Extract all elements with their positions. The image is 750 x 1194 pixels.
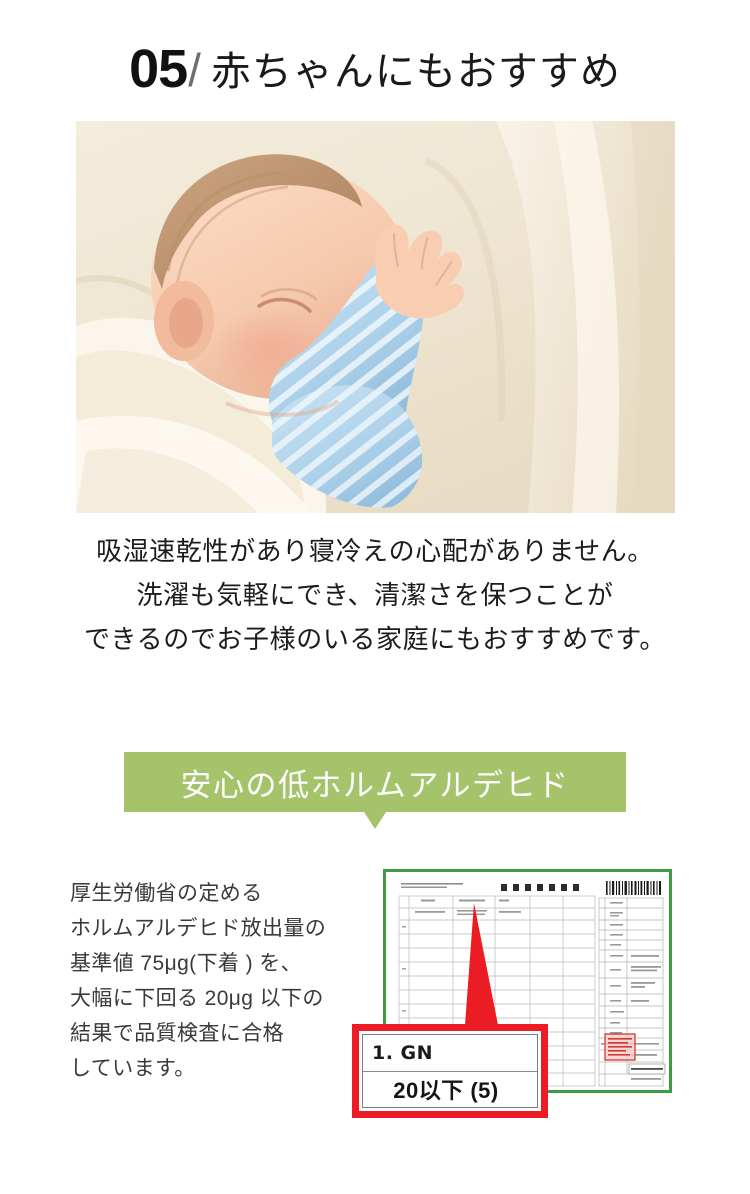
- description-line: 吸湿速乾性があり寝冷えの心配がありません。: [0, 529, 750, 573]
- spec-text-block: 厚生労働省の定める ホルムアルデヒド放出量の 基準値 75μg(下着 ) を、 …: [70, 876, 370, 1086]
- description-line: 洗濯も気軽にでき、清潔さを保つことが: [0, 573, 750, 617]
- page-title: 05/赤ちゃんにもおすすめ: [0, 38, 750, 100]
- spec-line: 厚生労働省の定める: [70, 876, 370, 911]
- description-block: 吸湿速乾性があり寝冷えの心配がありません。 洗濯も気軽にでき、清潔さを保つことが…: [0, 529, 750, 661]
- sleeping-baby-photo: [76, 121, 675, 513]
- callout-table: 1. GN 20以下 (5): [362, 1034, 538, 1108]
- spec-line: 結果で品質検査に合格: [70, 1016, 370, 1051]
- section-separator: /: [188, 44, 201, 96]
- callout-value-row: 20以下 (5): [363, 1072, 537, 1108]
- section-title-text: 赤ちゃんにもおすすめ: [211, 50, 621, 94]
- section-number: 05: [129, 39, 187, 99]
- red-pointer-triangle-icon: [465, 903, 498, 1025]
- formaldehyde-banner: 安心の低ホルムアルデヒド: [124, 752, 626, 812]
- callout-code: 1. GN: [372, 1042, 433, 1064]
- description-line: できるのでお子様のいる家庭にもおすすめです。: [0, 617, 750, 661]
- banner-label: 安心の低ホルムアルデヒド: [180, 760, 569, 805]
- spec-line: 基準値 75μg(下着 ) を、: [70, 946, 370, 981]
- baby-photo-illustration: [76, 121, 675, 513]
- spec-line: ホルムアルデヒド放出量の: [70, 911, 370, 946]
- triangle-down-icon: [364, 812, 386, 829]
- formaldehyde-result-callout: 1. GN 20以下 (5): [352, 1024, 548, 1118]
- spec-line: 大幅に下回る 20μg 以下の: [70, 981, 370, 1016]
- callout-value: 20以下 (5): [393, 1073, 498, 1105]
- spec-line: しています。: [70, 1051, 370, 1086]
- callout-code-row: 1. GN: [363, 1035, 537, 1072]
